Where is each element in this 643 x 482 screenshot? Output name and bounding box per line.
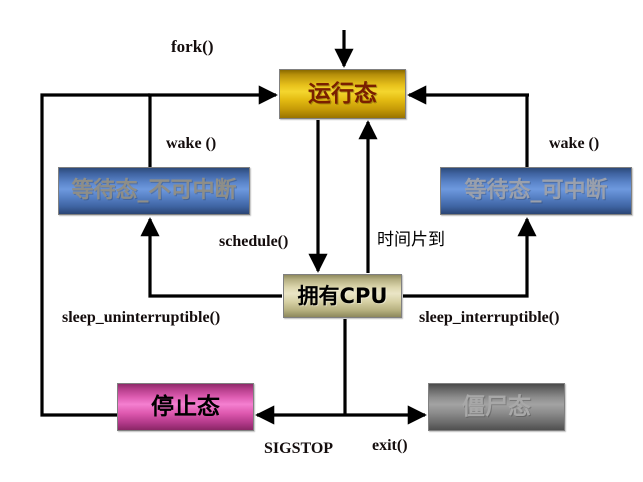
state-node-stopped[interactable]: 停止态 [117, 383, 254, 431]
edge-label-timeslice: 时间片到 [377, 232, 445, 249]
state-node-has-cpu-label: 拥有CPU [298, 286, 388, 307]
state-node-wait-uninterruptible-label: 等待态_不可中断 [71, 180, 236, 202]
state-node-zombie[interactable]: 僵尸态 [428, 383, 565, 431]
edge-label-sleep-interruptible: sleep_interruptible() [419, 310, 559, 326]
edge-label-sleep-uninterruptible: sleep_uninterruptible() [62, 310, 220, 326]
edge-label-wake-right: wake () [549, 136, 599, 152]
state-node-zombie-label: 僵尸态 [462, 396, 531, 419]
edge-label-schedule: schedule() [219, 234, 288, 250]
state-node-has-cpu[interactable]: 拥有CPU [283, 274, 402, 318]
state-node-stopped-label: 停止态 [151, 396, 220, 419]
edge-label-sigstop: SIGSTOP [264, 441, 333, 457]
state-node-wait-interruptible-label: 等待态_可中断 [464, 180, 607, 202]
edge-sleep-uninterruptible [150, 219, 282, 296]
state-node-wait-interruptible[interactable]: 等待态_可中断 [440, 167, 632, 215]
edge-label-exit: exit() [372, 438, 408, 454]
state-node-running[interactable]: 运行态 [279, 69, 406, 119]
process-state-diagram: 运行态 等待态_不可中断 等待态_可中断 拥有CPU 停止态 僵尸态 fork(… [0, 0, 643, 482]
state-node-running-label: 运行态 [308, 83, 377, 106]
edge-label-wake-left: wake () [166, 136, 216, 152]
edge-label-fork: fork() [171, 38, 213, 55]
state-node-wait-uninterruptible[interactable]: 等待态_不可中断 [58, 167, 250, 215]
edge-stopped-to-running [42, 95, 150, 415]
